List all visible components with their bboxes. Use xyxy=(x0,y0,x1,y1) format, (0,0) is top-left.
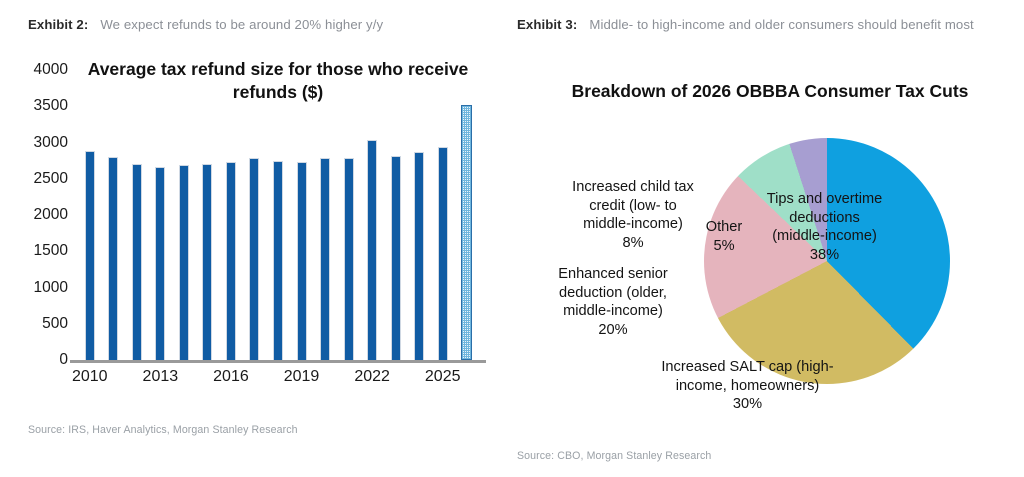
exhibit-3-header: Exhibit 3:Middle- to high-income and old… xyxy=(517,14,997,35)
pie-label-salt: Increased SALT cap (high- income, homeow… xyxy=(645,358,850,414)
exhibits-page: Exhibit 2:We expect refunds to be around… xyxy=(0,0,1024,477)
bar-slot xyxy=(172,70,196,360)
exhibit-3-label: Exhibit 3: xyxy=(517,17,577,32)
exhibit-2-label: Exhibit 2: xyxy=(28,17,88,32)
bar-slot xyxy=(360,70,384,360)
exhibit-2-source: Source: IRS, Haver Analytics, Morgan Sta… xyxy=(28,424,298,436)
y-axis-tick: 2000 xyxy=(34,206,68,224)
bar-slot xyxy=(196,70,220,360)
bar-slot xyxy=(219,70,243,360)
bar xyxy=(155,167,165,360)
y-axis-tick: 4000 xyxy=(34,61,68,79)
bar-chart: 40003500300025002000150010005000 2010201… xyxy=(0,70,500,390)
bar xyxy=(297,162,307,360)
bar xyxy=(226,162,236,360)
bar-slot xyxy=(431,70,455,360)
bar-slot xyxy=(149,70,173,360)
bar-slot xyxy=(125,70,149,360)
y-axis-tick: 0 xyxy=(59,351,68,369)
bar xyxy=(344,158,354,360)
bar xyxy=(108,157,118,360)
pie-label-other: Other 5% xyxy=(694,218,754,255)
bar-slot xyxy=(78,70,102,360)
bar-slot xyxy=(290,70,314,360)
bar-slot xyxy=(266,70,290,360)
bar xyxy=(273,161,283,360)
bar xyxy=(85,151,95,360)
bar-slot xyxy=(407,70,431,360)
y-axis-tick: 3500 xyxy=(34,97,68,115)
pie-label-child-tax-credit: Increased child tax credit (low- to midd… xyxy=(558,178,708,252)
pie-chart-title: Breakdown of 2026 OBBBA Consumer Tax Cut… xyxy=(560,80,980,103)
bar-chart-y-axis: 40003500300025002000150010005000 xyxy=(0,70,74,360)
bar-slot xyxy=(384,70,408,360)
bar xyxy=(438,147,448,360)
x-axis-tick: 2019 xyxy=(284,368,320,386)
bar xyxy=(367,140,377,360)
pie-label-tips: Tips and overtime deductions (middle-inc… xyxy=(737,190,912,264)
bar-slot xyxy=(102,70,126,360)
bar-chart-baseline xyxy=(70,360,486,363)
exhibit-3-caption: Middle- to high-income and older consume… xyxy=(589,17,973,32)
y-axis-tick: 1500 xyxy=(34,242,68,260)
x-axis-tick: 2013 xyxy=(143,368,179,386)
x-axis-tick: 2025 xyxy=(425,368,461,386)
bar-slot xyxy=(337,70,361,360)
bar xyxy=(414,152,424,360)
pie-label-senior: Enhanced senior deduction (older, middle… xyxy=(533,265,693,339)
x-axis-tick: 2010 xyxy=(72,368,108,386)
pie-chart: Tips and overtime deductions (middle-inc… xyxy=(505,130,1024,420)
bar-series xyxy=(78,70,478,360)
bar-slot xyxy=(313,70,337,360)
bar xyxy=(249,158,259,360)
exhibit-2-panel: Exhibit 2:We expect refunds to be around… xyxy=(0,0,500,477)
y-axis-tick: 1000 xyxy=(34,279,68,297)
bar xyxy=(179,165,189,360)
bar-forecast xyxy=(461,105,472,360)
exhibit-2-header: Exhibit 2:We expect refunds to be around… xyxy=(28,14,488,35)
bar xyxy=(132,164,142,360)
exhibit-3-panel: Exhibit 3:Middle- to high-income and old… xyxy=(505,0,1024,477)
bar xyxy=(320,158,330,360)
y-axis-tick: 3000 xyxy=(34,134,68,152)
bar-chart-plot-area xyxy=(78,70,478,360)
y-axis-tick: 500 xyxy=(42,315,68,333)
bar xyxy=(202,164,212,360)
exhibit-3-source: Source: CBO, Morgan Stanley Research xyxy=(517,450,711,462)
bar xyxy=(391,156,401,360)
x-axis-tick: 2016 xyxy=(213,368,249,386)
y-axis-tick: 2500 xyxy=(34,170,68,188)
x-axis-tick: 2022 xyxy=(354,368,390,386)
bar-slot xyxy=(455,70,479,360)
bar-chart-x-axis: 201020132016201920222025 xyxy=(78,368,478,398)
exhibit-2-caption: We expect refunds to be around 20% highe… xyxy=(100,17,383,32)
bar-slot xyxy=(243,70,267,360)
